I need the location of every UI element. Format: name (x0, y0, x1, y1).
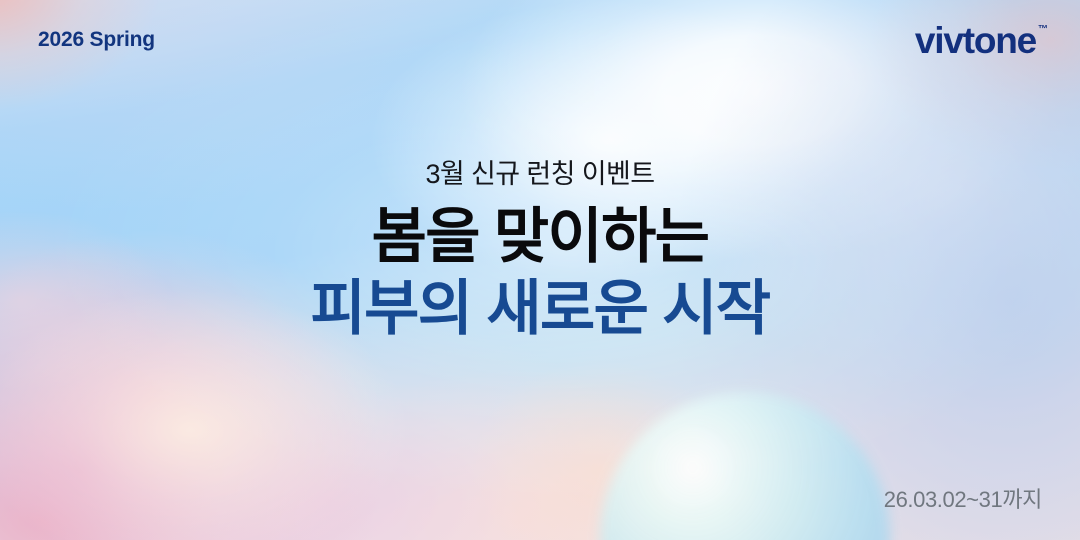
headline-block: 3월 신규 런칭 이벤트 봄을 맞이하는 피부의 새로운 시작 (0, 158, 1080, 343)
headline-line-1: 봄을 맞이하는 (0, 204, 1080, 270)
promo-banner: 2026 Spring vivtone ™ 3월 신규 런칭 이벤트 봄을 맞이… (0, 0, 1080, 540)
headline-line-2: 피부의 새로운 시작 (0, 274, 1080, 343)
brand-logo[interactable]: vivtone ™ (915, 22, 1048, 59)
banner-content: 2026 Spring vivtone ™ 3월 신규 런칭 이벤트 봄을 맞이… (0, 0, 1080, 540)
season-tag: 2026 Spring (38, 28, 155, 52)
brand-wordmark: vivtone (915, 22, 1036, 59)
trademark-icon: ™ (1038, 25, 1048, 35)
eyebrow-text: 3월 신규 런칭 이벤트 (0, 158, 1080, 190)
promotion-period-label: 26.03.02~31까지 (884, 482, 1042, 514)
